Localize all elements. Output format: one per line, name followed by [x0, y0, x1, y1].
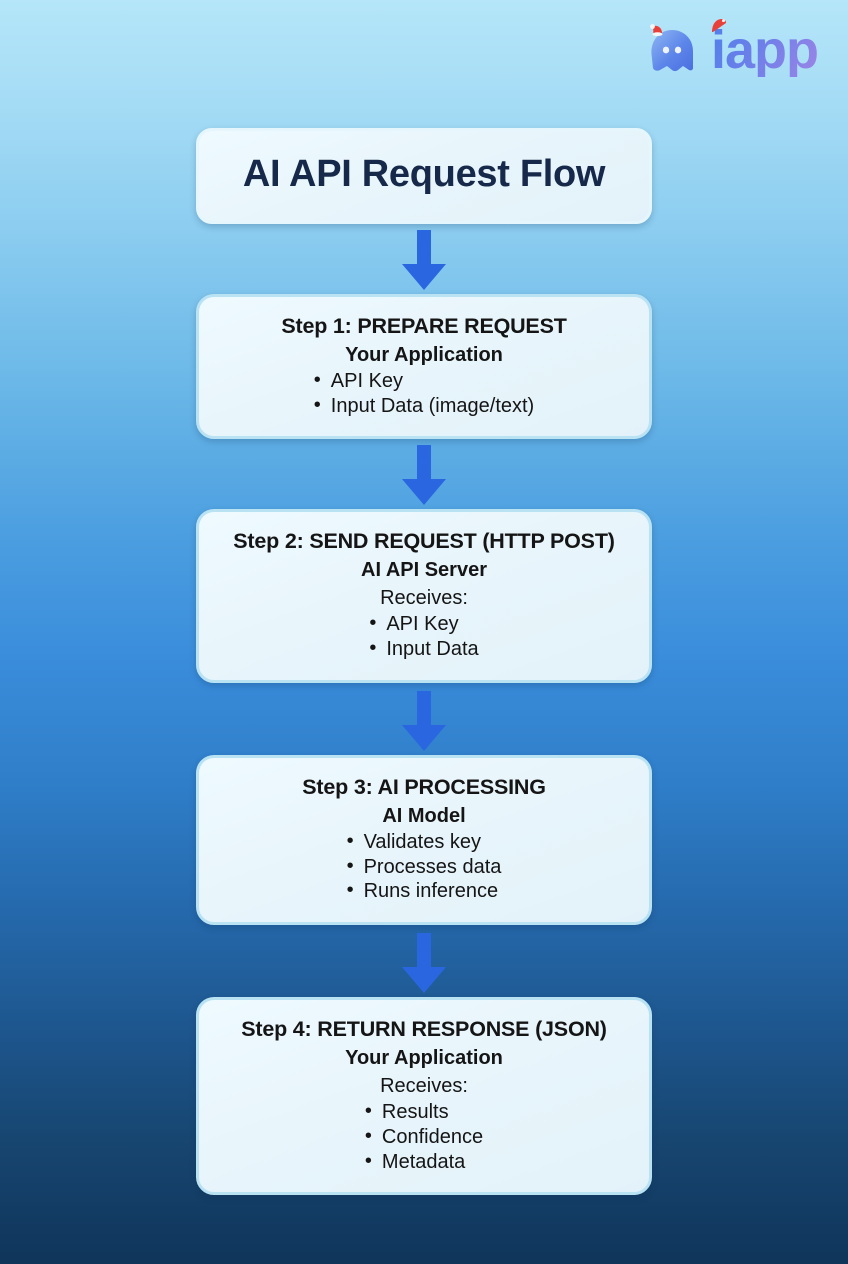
list-item: API Key	[314, 369, 534, 394]
list-item: Input Data	[369, 637, 478, 662]
arrow-down-icon-3	[394, 691, 454, 753]
flow-step-node-1: Step 1: PREPARE REQUEST Your Application…	[196, 294, 652, 439]
flow-step-node-3: Step 3: AI PROCESSING AI Model Validates…	[196, 755, 652, 925]
list-item: Results	[365, 1100, 483, 1125]
step-subtitle-2: AI API Server	[217, 557, 631, 584]
step-title-4: Step 4: RETURN RESPONSE (JSON)	[217, 1016, 631, 1043]
flow-step-node-2: Step 2: SEND REQUEST (HTTP POST) AI API …	[196, 509, 652, 682]
step-title-1: Step 1: PREPARE REQUEST	[217, 313, 631, 340]
flowchart: AI API Request Flow Step 1: PREPARE REQU…	[0, 0, 848, 1195]
step-receives-label-2: Receives:	[217, 585, 631, 612]
step-bullet-list-1: API Key Input Data (image/text)	[314, 369, 534, 419]
step-title-2: Step 2: SEND REQUEST (HTTP POST)	[217, 528, 631, 555]
step-subtitle-4: Your Application	[217, 1045, 631, 1072]
flow-step-node-4: Step 4: RETURN RESPONSE (JSON) Your Appl…	[196, 997, 652, 1195]
list-item: Runs inference	[347, 879, 502, 904]
flow-title-node: AI API Request Flow	[196, 128, 652, 224]
list-item: Input Data (image/text)	[314, 394, 534, 419]
page-title: AI API Request Flow	[217, 155, 631, 195]
step-title-3: Step 3: AI PROCESSING	[217, 774, 631, 801]
step-subtitle-3: AI Model	[217, 803, 631, 830]
list-item: Metadata	[365, 1150, 483, 1175]
step-subtitle-1: Your Application	[217, 342, 631, 369]
step-bullet-list-2: API Key Input Data	[369, 612, 478, 662]
arrow-down-icon-4	[394, 933, 454, 995]
arrow-down-icon-1	[394, 230, 454, 292]
list-item: Confidence	[365, 1125, 483, 1150]
step-bullet-list-3: Validates key Processes data Runs infere…	[347, 830, 502, 904]
list-item: API Key	[369, 612, 478, 637]
step-receives-label-4: Receives:	[217, 1073, 631, 1100]
list-item: Processes data	[347, 855, 502, 880]
step-bullet-list-4: Results Confidence Metadata	[365, 1100, 483, 1174]
arrow-down-icon-2	[394, 445, 454, 507]
list-item: Validates key	[347, 830, 502, 855]
